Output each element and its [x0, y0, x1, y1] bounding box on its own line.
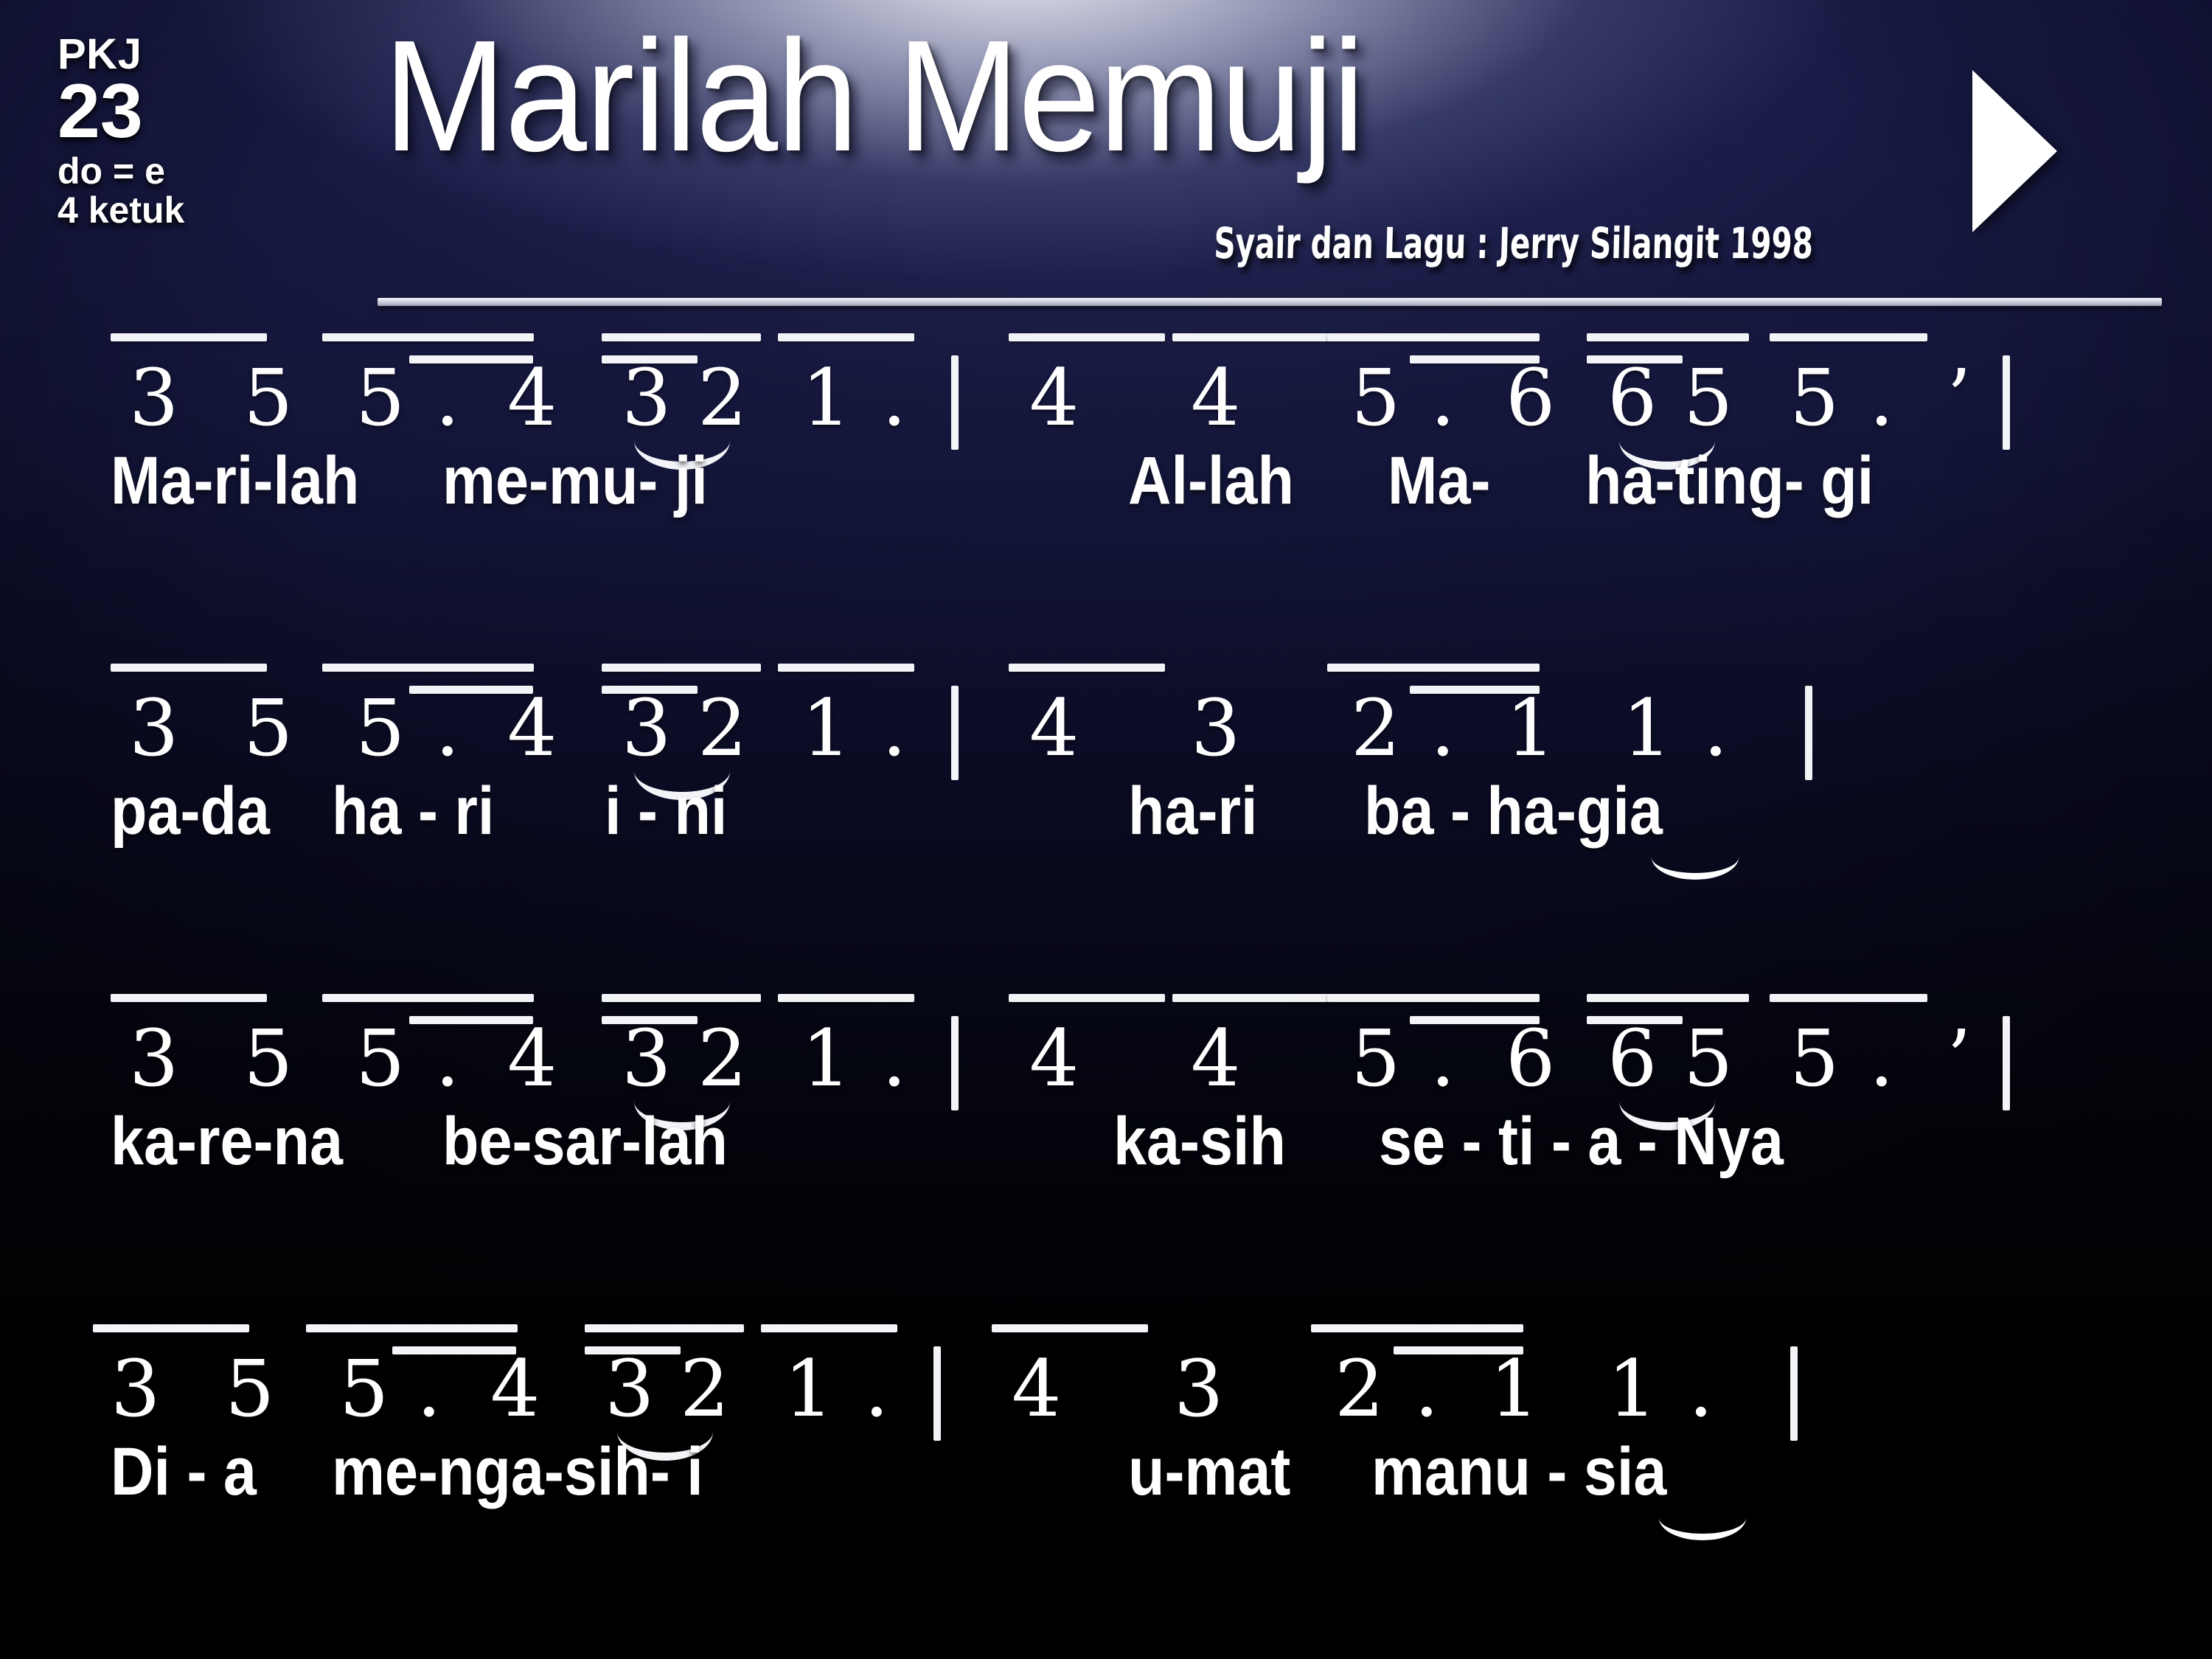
notation-row: 355.4321.445.6655.’: [0, 978, 2212, 1125]
beam-line: [761, 1324, 897, 1332]
beam-line: [1311, 1324, 1523, 1332]
note-digit: 5: [243, 683, 293, 773]
note-digit: 1: [1489, 1343, 1539, 1434]
beam-line: [1009, 333, 1165, 341]
note-digit: 2: [1351, 683, 1400, 773]
note-digit: 5: [1790, 1013, 1839, 1104]
note-digit: 3: [1174, 1343, 1223, 1434]
note-digit: 5: [355, 1013, 405, 1104]
lyric-slur-curve: [1652, 855, 1739, 880]
note-digit: 5: [225, 1343, 274, 1434]
note-digit: 6: [1506, 352, 1555, 443]
lyric-token: se - ti - a - Nya: [1379, 1107, 1784, 1175]
beam-line: [322, 994, 534, 1002]
beam-line: [778, 333, 914, 341]
note-digit: 5: [1351, 352, 1400, 443]
lyric-token: me-nga-sih- i: [332, 1438, 703, 1506]
note-digit: 6: [1506, 1013, 1555, 1104]
lyric-token: Ma-: [1388, 447, 1490, 515]
lyric-token: ha-ri: [1128, 777, 1257, 845]
beam-line: [93, 1324, 249, 1332]
lyric-token: Di - a: [111, 1438, 257, 1506]
note-digit: 4: [1191, 1013, 1240, 1104]
beam-line: [1327, 333, 1540, 341]
beam-line: [1587, 994, 1749, 1002]
note-digit: .: [864, 1343, 889, 1434]
header-divider: [378, 298, 2162, 306]
beam-line: [322, 664, 534, 672]
beam-line: [1327, 664, 1540, 672]
note-digit: 4: [507, 1013, 557, 1104]
beam-line: [778, 994, 914, 1002]
slide-header: PKJ 23 do = e 4 ketuk Marilah Memuji Sya…: [0, 0, 2212, 317]
note-digit: 2: [680, 1343, 729, 1434]
lyric-token: be-sar-lah: [442, 1107, 728, 1175]
note-digit: .: [435, 1013, 460, 1104]
lyric-token: ha - ri: [332, 777, 494, 845]
note-digit: 3: [129, 1013, 178, 1104]
lyric-token: ka-re-na: [111, 1107, 343, 1175]
beam-line: [1009, 664, 1165, 672]
music-system: 355.4321.445.6655.’Ma-ri-lahme-mu- jiAl-…: [0, 317, 2212, 647]
beam-line: [1770, 994, 1927, 1002]
note-digit: .: [1703, 683, 1728, 773]
song-credit: Syair dan Lagu : Jerry Silangit 1998: [1214, 218, 1814, 268]
beam-line: [1587, 333, 1749, 341]
music-system: 355.4321.432.11.Di - ame-nga-sih- iu-mat…: [0, 1308, 2212, 1638]
beam-line: [1327, 994, 1540, 1002]
barline: [933, 1346, 941, 1441]
note-digit: .: [1869, 1013, 1894, 1104]
note-digit: 2: [698, 683, 747, 773]
beam-line: [778, 664, 914, 672]
note-digit: .: [882, 352, 907, 443]
beam-line: [585, 1324, 744, 1332]
barline: [1790, 1346, 1798, 1441]
note-digit: .: [882, 683, 907, 773]
note-digit: 3: [111, 1343, 160, 1434]
lyrics-row: ka-re-nabe-sar-lahka-sihse - ti - a - Ny…: [0, 1107, 2212, 1240]
hymn-meta-block: PKJ 23 do = e 4 ketuk: [58, 32, 184, 229]
music-systems: 355.4321.445.6655.’Ma-ri-lahme-mu- jiAl-…: [0, 317, 2212, 1638]
beam-line: [602, 664, 761, 672]
note-digit: 2: [698, 352, 747, 443]
song-slide: PKJ 23 do = e 4 ketuk Marilah Memuji Sya…: [0, 0, 2212, 1659]
lyric-token: ba - ha-gia: [1364, 777, 1663, 845]
beam-line: [1009, 994, 1165, 1002]
note-digit: 3: [622, 683, 671, 773]
notation-row: 355.4321.432.11.: [0, 1308, 2212, 1455]
note-digit: .: [1430, 352, 1455, 443]
beam-line: [602, 994, 761, 1002]
note-digit: .: [1430, 1013, 1455, 1104]
note-digit: 4: [1012, 1343, 1061, 1434]
note-digit: 3: [129, 683, 178, 773]
lyric-token: i - ni: [605, 777, 727, 845]
note-digit: 4: [507, 683, 557, 773]
note-digit: 2: [698, 1013, 747, 1104]
note-digit: 2: [1335, 1343, 1384, 1434]
lyric-token: ka-sih: [1113, 1107, 1286, 1175]
beam-line: [111, 664, 267, 672]
note-digit: 3: [622, 352, 671, 443]
lyric-token: ha-ting- gi: [1585, 447, 1874, 515]
note-digit: 3: [129, 352, 178, 443]
note-digit: .: [1688, 1343, 1714, 1434]
note-digit: 5: [1683, 1013, 1733, 1104]
note-digit: ’: [1947, 352, 1972, 443]
note-digit: 4: [507, 352, 557, 443]
note-digit: 4: [1029, 683, 1079, 773]
lyric-token: pa-da: [111, 777, 270, 845]
music-system: 355.4321.445.6655.’ka-re-nabe-sar-lahka-…: [0, 978, 2212, 1308]
barline: [951, 686, 959, 780]
note-digit: .: [435, 352, 460, 443]
lyrics-row: Di - ame-nga-sih- iu-matmanu - sia: [0, 1438, 2212, 1571]
beam-line: [111, 994, 267, 1002]
lyrics-row: Ma-ri-lahme-mu- jiAl-lahMa-ha-ting- gi: [0, 447, 2212, 580]
note-digit: 5: [339, 1343, 389, 1434]
beam-line: [322, 333, 534, 341]
note-digit: 1: [801, 352, 851, 443]
note-digit: .: [1414, 1343, 1439, 1434]
note-digit: 5: [1683, 352, 1733, 443]
beam-line: [306, 1324, 518, 1332]
lyric-token: Ma-ri-lah: [111, 447, 359, 515]
note-digit: .: [882, 1013, 907, 1104]
note-digit: 4: [1029, 1013, 1079, 1104]
beam-line: [1172, 994, 1329, 1002]
beam-line: [992, 1324, 1148, 1332]
lyric-token: manu - sia: [1371, 1438, 1666, 1506]
note-digit: 5: [355, 683, 405, 773]
barline: [2003, 355, 2010, 450]
lyric-token: u-mat: [1128, 1438, 1290, 1506]
key-signature: do = e: [58, 153, 184, 190]
note-digit: 5: [243, 1013, 293, 1104]
note-digit: .: [435, 683, 460, 773]
note-digit: 6: [1607, 352, 1657, 443]
hymn-number: 23: [58, 73, 184, 150]
lyric-slur-curve: [1659, 1515, 1746, 1540]
notation-row: 355.4321.445.6655.’: [0, 317, 2212, 465]
beam-line: [1770, 333, 1927, 341]
note-digit: .: [1430, 683, 1455, 773]
note-digit: 3: [622, 1013, 671, 1104]
note-digit: 5: [355, 352, 405, 443]
note-digit: 5: [1790, 352, 1839, 443]
note-digit: 1: [1622, 683, 1672, 773]
lyrics-row: pa-daha - rii - niha-riba - ha-gia: [0, 777, 2212, 910]
note-digit: 1: [801, 683, 851, 773]
note-digit: .: [1869, 352, 1894, 443]
barline: [951, 1016, 959, 1110]
barline: [1805, 686, 1812, 780]
note-digit: ’: [1947, 1013, 1972, 1104]
time-signature: 4 ketuk: [58, 192, 184, 229]
lyric-token: me-mu- ji: [442, 447, 708, 515]
note-digit: 1: [1607, 1343, 1657, 1434]
note-digit: 4: [1029, 352, 1079, 443]
barline: [951, 355, 959, 450]
note-digit: 4: [490, 1343, 540, 1434]
note-digit: 1: [784, 1343, 833, 1434]
note-digit: .: [417, 1343, 442, 1434]
note-digit: 3: [1191, 683, 1240, 773]
lyric-token: Al-lah: [1128, 447, 1294, 515]
play-triangle-icon[interactable]: [1972, 70, 2057, 232]
notation-row: 355.4321.432.11.: [0, 647, 2212, 795]
note-digit: 5: [243, 352, 293, 443]
music-system: 355.4321.432.11.pa-daha - rii - niha-rib…: [0, 647, 2212, 978]
note-digit: 4: [1191, 352, 1240, 443]
beam-line: [111, 333, 267, 341]
note-digit: 1: [1506, 683, 1555, 773]
note-digit: 1: [801, 1013, 851, 1104]
barline: [2003, 1016, 2010, 1110]
page-title: Marilah Memuji: [383, 16, 1790, 175]
beam-line: [1172, 333, 1329, 341]
note-digit: 5: [1351, 1013, 1400, 1104]
note-digit: 3: [605, 1343, 654, 1434]
beam-line: [602, 333, 761, 341]
note-digit: 6: [1607, 1013, 1657, 1104]
